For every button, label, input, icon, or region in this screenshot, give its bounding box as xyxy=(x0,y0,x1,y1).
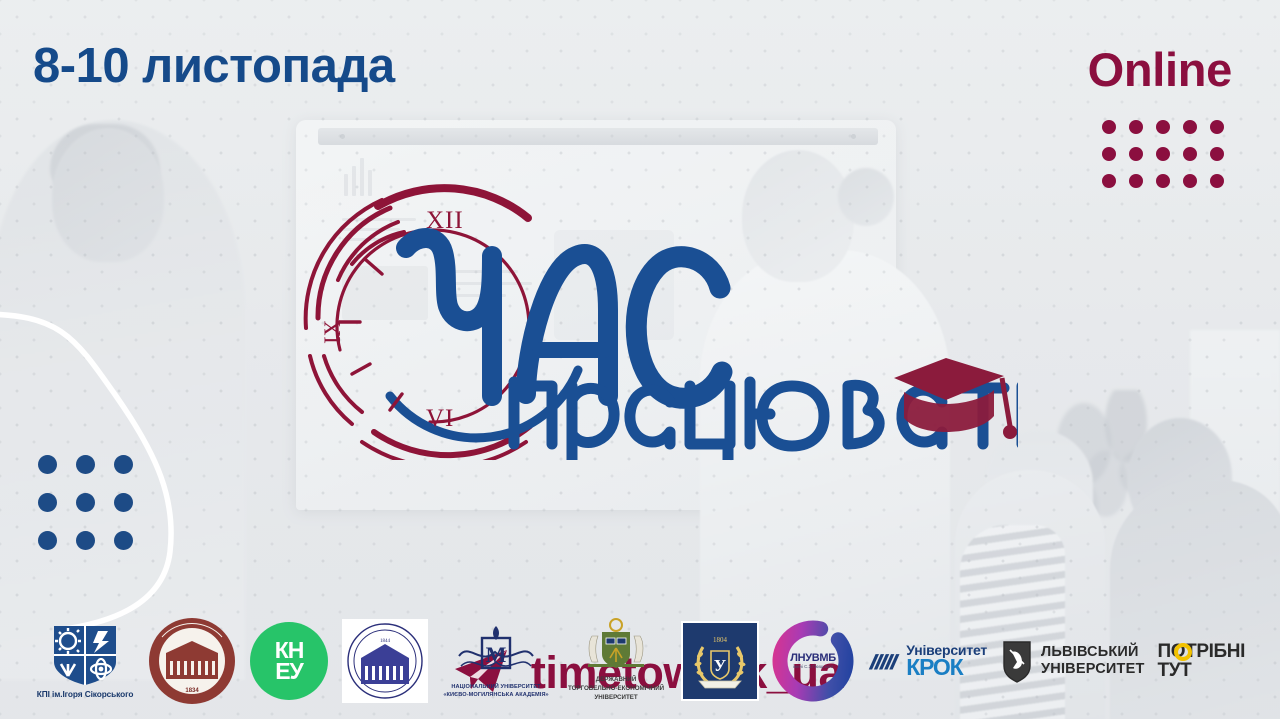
krok-line-2: КРОК xyxy=(906,656,987,679)
lnu-line-2: УНІВЕРСИТЕТ xyxy=(1041,661,1144,677)
univ-year: 1804 xyxy=(713,636,728,644)
event-logo: XII IX VI xyxy=(278,160,1018,460)
ukma-line-1: НАЦІОНАЛЬНИЙ УНІВЕРСИТЕТ xyxy=(441,684,551,692)
univ-letter: У xyxy=(714,656,727,675)
krok-stripes-icon xyxy=(867,641,901,681)
dot-grid-burgundy xyxy=(1102,120,1224,188)
ptut-line-2: ТУТ xyxy=(1158,661,1245,680)
partner-logo-krok[interactable]: Університет КРОК xyxy=(867,641,987,681)
dteu-line-2: ТОРГОВЕЛЬНО-ЕКОНОМІЧНИЙ xyxy=(564,685,668,694)
partner-caption-naukma: НАЦІОНАЛЬНИЙ УНІВЕРСИТЕТ «КИЄВО-МОГИЛЯНС… xyxy=(441,684,551,700)
lnuvmb-acronym: ЛНУВМБ xyxy=(790,652,836,664)
partner-logo-dteu[interactable]: ДЕРЖАВНИЙ ТОРГОВЕЛЬНО-ЕКОНОМІЧНИЙ УНІВЕР… xyxy=(564,618,668,703)
kneu-line-1: КН xyxy=(275,640,304,660)
ptut-line-1: ПОТРІБНІ xyxy=(1158,642,1245,661)
partner-logo-lviv-polytechnic[interactable]: 1844 xyxy=(342,619,428,703)
partner-logos: КПІ ім.Ігоря Сікорського xyxy=(0,608,1280,713)
partner-logo-kneu[interactable]: КН ЕУ xyxy=(249,621,329,701)
partner-logo-naukma[interactable]: М НАЦІОНАЛЬНИЙ УНІВЕРСИТЕТ «КИЄВО-МОГИЛЯ… xyxy=(441,622,551,700)
partner-caption-kneu: КН ЕУ xyxy=(249,621,329,701)
lnu-line-1: ЛЬВІВСЬКИЙ xyxy=(1041,644,1144,660)
graduation-cap-icon xyxy=(894,358,1017,439)
partner-logo-potribni-tut[interactable]: ПОТРІБНІ ТУТ xyxy=(1158,642,1245,680)
clock-numeral-vi: VI xyxy=(426,405,454,432)
kneu-line-2: ЕУ xyxy=(275,661,303,681)
event-dates: 8-10 листопада xyxy=(33,38,395,94)
lnu-crest-icon xyxy=(1000,638,1034,684)
lnuvmb-subtitle: імені С.З.Ґжицького xyxy=(793,665,833,670)
clock-numeral-ix: IX xyxy=(320,319,345,344)
event-format-badge: Online xyxy=(1088,42,1232,97)
partner-logo-lnuvmb[interactable]: ЛНУВМБ імені С.З.Ґжицького xyxy=(772,620,854,702)
ukma-monogram: М xyxy=(486,642,507,667)
partner-caption-knu: 1834 xyxy=(148,688,236,694)
partner-caption-kpi: КПІ ім.Ігоря Сікорського xyxy=(35,689,135,699)
ukma-line-2: «КИЄВО-МОГИЛЯНСЬКА АКАДЕМІЯ» xyxy=(441,692,551,700)
partner-caption-dteu: ДЕРЖАВНИЙ ТОРГОВЕЛЬНО-ЕКОНОМІЧНИЙ УНІВЕР… xyxy=(564,676,668,703)
clock-ticks xyxy=(340,260,402,410)
banner-canvas: 8-10 листопада Online xyxy=(0,0,1280,719)
logo-word-chas xyxy=(406,238,722,398)
partner-logo-kpi[interactable]: КПІ ім.Ігоря Сікорського xyxy=(35,622,135,699)
dot-grid-navy xyxy=(38,455,133,550)
dteu-line-1: ДЕРЖАВНИЙ xyxy=(564,676,668,685)
partner-caption-lnuvmb: ЛНУВМБ імені С.З.Ґжицького xyxy=(772,620,854,702)
partner-logo-lnu[interactable]: ЛЬВІВСЬКИЙ УНІВЕРСИТЕТ xyxy=(1000,638,1144,684)
lp-year: 1844 xyxy=(380,639,391,644)
partner-logo-knu[interactable]: 1834 xyxy=(148,617,236,705)
ptut-ring-icon xyxy=(1174,643,1192,661)
dteu-line-3: УНІВЕРСИТЕТ xyxy=(564,694,668,703)
partner-logo-univ-1804[interactable]: 1804 У xyxy=(681,621,759,701)
